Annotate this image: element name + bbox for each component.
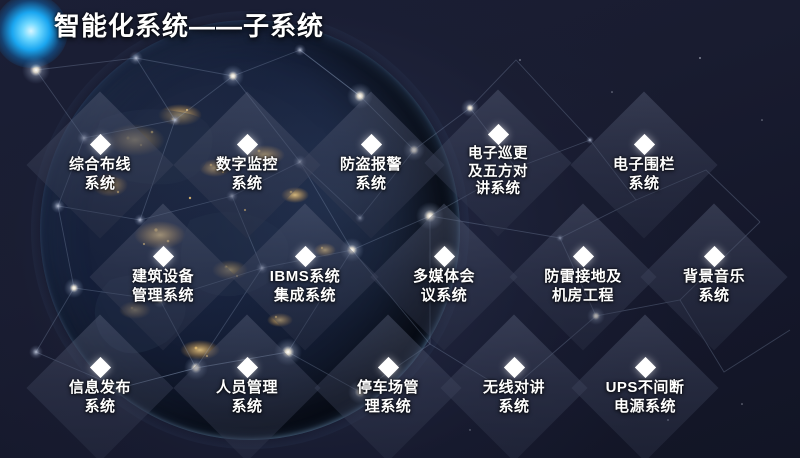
white-diamond-marker-icon [572, 246, 593, 267]
node-label: 停车场管 理系统 [323, 379, 453, 416]
white-diamond-marker-icon [236, 134, 257, 155]
node-label: 综合布线 系统 [35, 156, 165, 193]
white-diamond-marker-icon [433, 246, 454, 267]
white-diamond-marker-icon [236, 357, 257, 378]
node-content: 人员管理 系统 [182, 360, 312, 416]
node-content: 信息发布 系统 [35, 360, 165, 416]
node-label: IBMS系统 集成系统 [240, 268, 370, 305]
node-label: 人员管理 系统 [182, 379, 312, 416]
white-diamond-marker-icon [487, 124, 508, 145]
white-diamond-marker-icon [377, 357, 398, 378]
node-label: 背景音乐 系统 [649, 268, 779, 305]
node-content: 数字监控 系统 [182, 137, 312, 193]
node-label: 防盗报警 系统 [306, 156, 436, 193]
node-content: UPS不间断 电源系统 [580, 360, 710, 416]
node-content: 防盗报警 系统 [306, 137, 436, 193]
subsystem-node-renyuan-guanli[interactable]: 人员管理 系统 [172, 313, 322, 458]
node-label: 无线对讲 系统 [449, 379, 579, 416]
node-content: 背景音乐 系统 [649, 249, 779, 305]
white-diamond-marker-icon [89, 357, 110, 378]
node-label: UPS不间断 电源系统 [580, 379, 710, 416]
white-diamond-marker-icon [152, 246, 173, 267]
slide-canvas: 智能化系统——子系统 综合布线 系统数字监控 系统防盗报警 系统电子巡更 及五方… [0, 0, 800, 458]
node-label: 电子围栏 系统 [579, 156, 709, 193]
node-label: 数字监控 系统 [182, 156, 312, 193]
node-label: 信息发布 系统 [35, 379, 165, 416]
node-label: 电子巡更 及五方对 讲系统 [433, 146, 563, 198]
white-diamond-marker-icon [633, 134, 654, 155]
white-diamond-marker-icon [294, 246, 315, 267]
node-label: 建筑设备 管理系统 [98, 268, 228, 305]
subsystem-node-ups-dianyuan[interactable]: UPS不间断 电源系统 [570, 313, 720, 458]
node-content: IBMS系统 集成系统 [240, 249, 370, 305]
node-content: 无线对讲 系统 [449, 360, 579, 416]
node-content: 电子巡更 及五方对 讲系统 [433, 127, 563, 198]
subsystem-node-grid: 综合布线 系统数字监控 系统防盗报警 系统电子巡更 及五方对 讲系统电子围栏 系… [0, 0, 800, 458]
node-content: 电子围栏 系统 [579, 137, 709, 193]
white-diamond-marker-icon [703, 246, 724, 267]
white-diamond-marker-icon [634, 357, 655, 378]
subsystem-node-xinxi-fabu[interactable]: 信息发布 系统 [25, 313, 175, 458]
node-content: 防雷接地及 机房工程 [518, 249, 648, 305]
node-label: 防雷接地及 机房工程 [518, 268, 648, 305]
node-content: 多媒体会 议系统 [379, 249, 509, 305]
page-title: 智能化系统——子系统 [54, 6, 324, 43]
node-content: 停车场管 理系统 [323, 360, 453, 416]
white-diamond-marker-icon [360, 134, 381, 155]
white-diamond-marker-icon [89, 134, 110, 155]
node-label: 多媒体会 议系统 [379, 268, 509, 305]
node-content: 建筑设备 管理系统 [98, 249, 228, 305]
white-diamond-marker-icon [503, 357, 524, 378]
subsystem-node-wuxian-duijiang[interactable]: 无线对讲 系统 [439, 313, 589, 458]
node-content: 综合布线 系统 [35, 137, 165, 193]
